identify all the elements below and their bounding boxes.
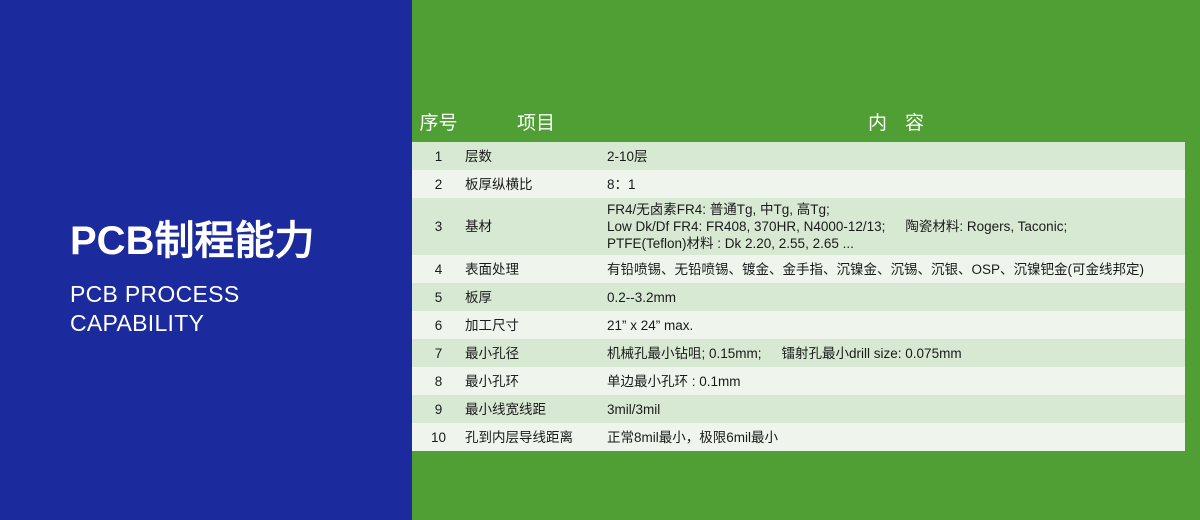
- content-line: 机械孔最小钻咀; 0.15mm;镭射孔最小drill size: 0.075mm: [607, 345, 1185, 362]
- cell-content: 21” x 24” max.: [607, 311, 1185, 339]
- cell-content: 0.2--3.2mm: [607, 283, 1185, 311]
- table-row: 9 最小线宽线距 3mil/3mil: [412, 395, 1185, 423]
- column-header-no: 序号: [412, 101, 465, 142]
- content-line: PTFE(Teflon)材料 : Dk 2.20, 2.55, 2.65 ...: [607, 235, 1185, 252]
- column-header-content-char-1: 内: [868, 113, 887, 134]
- content-line: 正常8mil最小，极限6mil最小: [607, 429, 1185, 446]
- pcb-capability-table: 序号 项目 内容 1 层数 2-10层 2 板厚纵横比: [412, 101, 1185, 451]
- page-subtitle-line-1: PCB PROCESS: [70, 280, 400, 309]
- table-row: 7 最小孔径 机械孔最小钻咀; 0.15mm;镭射孔最小drill size: …: [412, 339, 1185, 367]
- table-row: 3 基材 FR4/无卤素FR4: 普通Tg, 中Tg, 高Tg; Low Dk/…: [412, 198, 1185, 255]
- cell-content: FR4/无卤素FR4: 普通Tg, 中Tg, 高Tg; Low Dk/Df FR…: [607, 198, 1185, 255]
- table-header-row: 序号 项目 内容: [412, 101, 1185, 142]
- content-line: 21” x 24” max.: [607, 317, 1185, 334]
- cell-item: 最小线宽线距: [465, 395, 607, 423]
- cell-no: 3: [412, 198, 465, 255]
- content-line: FR4/无卤素FR4: 普通Tg, 中Tg, 高Tg;: [607, 201, 1185, 218]
- cell-no: 6: [412, 311, 465, 339]
- cell-content: 正常8mil最小，极限6mil最小: [607, 423, 1185, 451]
- content-line: 2-10层: [607, 148, 1185, 165]
- table-row: 10 孔到内层导线距离 正常8mil最小，极限6mil最小: [412, 423, 1185, 451]
- cell-content: 有铅喷锡、无铅喷锡、镀金、金手指、沉镍金、沉锡、沉银、OSP、沉镍钯金(可金线邦…: [607, 255, 1185, 283]
- cell-no: 9: [412, 395, 465, 423]
- content-segment: 陶瓷材料: Rogers, Taconic;: [905, 219, 1067, 234]
- column-header-content: 内容: [607, 101, 1185, 142]
- cell-item: 层数: [465, 142, 607, 170]
- page-subtitle-line-2: CAPABILITY: [70, 309, 400, 338]
- spec-table-wrapper: 序号 项目 内容 1 层数 2-10层 2 板厚纵横比: [412, 101, 1185, 445]
- content-line: 3mil/3mil: [607, 401, 1185, 418]
- content-line: 单边最小孔环 : 0.1mm: [607, 373, 1185, 390]
- table-row: 5 板厚 0.2--3.2mm: [412, 283, 1185, 311]
- cell-no: 2: [412, 170, 465, 198]
- cell-item: 表面处理: [465, 255, 607, 283]
- page-title-cn: PCB制程能力: [70, 218, 400, 264]
- cell-item: 板厚: [465, 283, 607, 311]
- content-line: 8：1: [607, 176, 1185, 193]
- cell-item: 孔到内层导线距离: [465, 423, 607, 451]
- table-header: 序号 项目 内容: [412, 101, 1185, 142]
- table-body: 1 层数 2-10层 2 板厚纵横比 8：1 3 基材: [412, 142, 1185, 451]
- cell-no: 7: [412, 339, 465, 367]
- title-panel: PCB制程能力 PCB PROCESS CAPABILITY: [0, 0, 412, 520]
- cell-item: 最小孔径: [465, 339, 607, 367]
- cell-no: 1: [412, 142, 465, 170]
- cell-item: 板厚纵横比: [465, 170, 607, 198]
- cell-no: 10: [412, 423, 465, 451]
- table-row: 4 表面处理 有铅喷锡、无铅喷锡、镀金、金手指、沉镍金、沉锡、沉银、OSP、沉镍…: [412, 255, 1185, 283]
- column-header-content-char-2: 容: [905, 113, 924, 134]
- cell-content: 2-10层: [607, 142, 1185, 170]
- slide-canvas: PCB制程能力 PCB PROCESS CAPABILITY 序号 项目 内容: [0, 0, 1200, 520]
- cell-content: 3mil/3mil: [607, 395, 1185, 423]
- content-line: 0.2--3.2mm: [607, 289, 1185, 306]
- content-line: Low Dk/Df FR4: FR408, 370HR, N4000-12/13…: [607, 218, 1185, 235]
- column-header-item: 项目: [465, 101, 607, 142]
- table-row: 2 板厚纵横比 8：1: [412, 170, 1185, 198]
- table-row: 6 加工尺寸 21” x 24” max.: [412, 311, 1185, 339]
- content-segment: 机械孔最小钻咀; 0.15mm;: [607, 346, 762, 361]
- cell-no: 4: [412, 255, 465, 283]
- table-row: 1 层数 2-10层: [412, 142, 1185, 170]
- content-line: 有铅喷锡、无铅喷锡、镀金、金手指、沉镍金、沉锡、沉银、OSP、沉镍钯金(可金线邦…: [607, 261, 1185, 278]
- table-row: 8 最小孔环 单边最小孔环 : 0.1mm: [412, 367, 1185, 395]
- cell-content: 单边最小孔环 : 0.1mm: [607, 367, 1185, 395]
- cell-item: 加工尺寸: [465, 311, 607, 339]
- content-segment: 镭射孔最小drill size: 0.075mm: [782, 346, 962, 361]
- page-subtitle-en: PCB PROCESS CAPABILITY: [70, 280, 400, 338]
- content-segment: Low Dk/Df FR4: FR408, 370HR, N4000-12/13…: [607, 219, 885, 234]
- cell-content: 8：1: [607, 170, 1185, 198]
- cell-content: 机械孔最小钻咀; 0.15mm;镭射孔最小drill size: 0.075mm: [607, 339, 1185, 367]
- cell-item: 最小孔环: [465, 367, 607, 395]
- cell-item: 基材: [465, 198, 607, 255]
- cell-no: 5: [412, 283, 465, 311]
- cell-no: 8: [412, 367, 465, 395]
- title-block: PCB制程能力 PCB PROCESS CAPABILITY: [70, 218, 400, 338]
